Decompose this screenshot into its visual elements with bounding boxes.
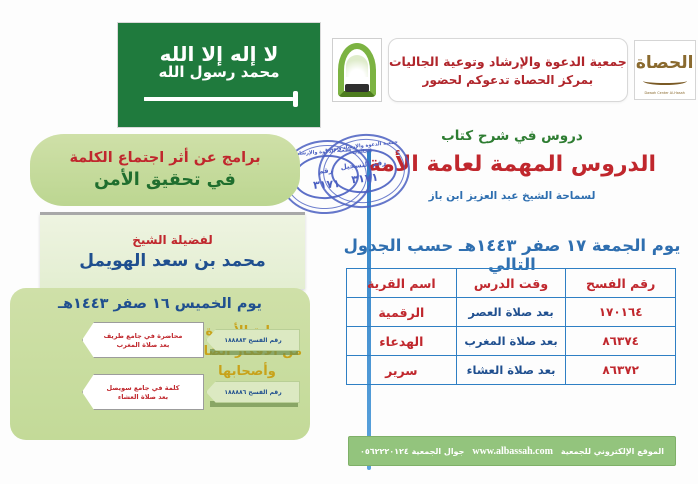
cell-permit: ١٧٠١٦٤	[566, 298, 676, 327]
program-title-line1: برامج عن أثر اجتماع الكلمة	[69, 150, 260, 166]
cell-time: بعد صلاة العشاء	[456, 356, 566, 385]
cell-village: الرقمية	[347, 298, 457, 327]
speaker-name: محمد بن سعد الهويمل	[79, 251, 266, 271]
table-row: ٨٦٣٧٢ بعد صلاة العشاء سرير	[347, 356, 676, 385]
speaker-box: لفضيلة الشيخ محمد بن سعد الهويمل	[40, 212, 305, 289]
brand-subtitle: Dawah Center Al-Hasah	[635, 91, 695, 95]
flag-sword-hilt	[293, 91, 298, 107]
flag-shahada-line1: لا إله إلا الله	[118, 43, 320, 65]
left-panel: جمعية الدعوة والإرشاد وتوعية الجاليات بم…	[326, 0, 698, 484]
column-header-village: اسم القرية	[347, 269, 457, 298]
flag-shahada-line2: محمد رسول الله	[118, 63, 320, 81]
table-header-row: رقم الفسح وقت الدرس اسم القرية	[347, 269, 676, 298]
footer-contact-bar: الموقع الإلكتروني للجمعية www.albassah.c…	[348, 436, 676, 466]
session-chevron: محاضرة في جامع طريف بعد صلاة المغرب	[82, 322, 204, 358]
alhasah-brand-logo: الحصاة Dawah Center Al-Hasah	[634, 40, 696, 100]
cell-time: بعد صلاة العصر	[456, 298, 566, 327]
speaker-honorific: لفضيلة الشيخ	[132, 233, 213, 247]
book-shape	[345, 84, 369, 92]
session-time: بعد صلاة العشاء	[118, 393, 168, 401]
program-title-box: برامج عن أثر اجتماع الكلمة في تحقيق الأم…	[30, 134, 300, 206]
footer-website-url[interactable]: www.albassah.com	[472, 446, 553, 457]
footer-mobile-label: جوال الجمعية ٠٥٦٢٢٢٠١٢٤	[360, 447, 464, 456]
left-header-row: جمعية الدعوة والإرشاد وتوعية الجاليات بم…	[332, 34, 690, 106]
session-title: كلمة في جامع سويصل	[106, 384, 179, 392]
rays-shape	[346, 55, 368, 77]
organization-invite: بمركز الحصاة تدعوكم لحضور	[423, 73, 594, 87]
poster-root: جمعية الدعوة والإرشاد وتوعية الجاليات بم…	[0, 0, 698, 484]
table-row: ٨٦٣٧٤ بعد صلاة المغرب الهدعاء	[347, 327, 676, 356]
column-header-time: وقت الدرس	[456, 269, 566, 298]
slogan-line-3: وأصحابها	[192, 362, 302, 382]
cell-permit: ٨٦٣٧٤	[566, 327, 676, 356]
brand-swoosh	[643, 77, 687, 85]
session-permit: رقم الفسح ١٨٨٨٨٣	[224, 337, 281, 344]
cell-permit: ٨٦٣٧٢	[566, 356, 676, 385]
session-permit-tag: رقم الفسح ١٨٨٨٨٣	[206, 329, 300, 351]
flag-sword-blade	[144, 97, 294, 101]
mosque-arch-icon	[332, 38, 382, 102]
footer-website-label: الموقع الإلكتروني للجمعية	[561, 447, 664, 456]
brand-calligraphy: الحصاة	[635, 53, 695, 73]
session-chevron: كلمة في جامع سويصل بعد صلاة العشاء	[82, 374, 204, 410]
session-permit: رقم الفسح ١٨٨٨٨٦	[224, 389, 281, 396]
session-time: بعد صلاة المغرب	[117, 341, 170, 349]
event-details-card: يوم الخميس ١٦ صفر ١٤٤٣هـ حماية الأسرة من…	[10, 288, 310, 440]
table-row: ١٧٠١٦٤ بعد صلاة العصر الرقمية	[347, 298, 676, 327]
right-panel: لا إله إلا الله محمد رسول الله جمعية الد…	[0, 0, 330, 484]
program-title-line2: في تحقيق الأمن	[94, 170, 236, 190]
session-title: محاضرة في جامع طريف	[104, 332, 183, 340]
cell-time: بعد صلاة المغرب	[456, 327, 566, 356]
column-header-permit: رقم الفسح	[566, 269, 676, 298]
session-permit-tag: رقم الفسح ١٨٨٨٨٦	[206, 381, 300, 403]
saudi-flag-icon: لا إله إلا الله محمد رسول الله	[117, 22, 321, 128]
organization-name: جمعية الدعوة والإرشاد وتوعية الجاليات	[389, 54, 627, 69]
event-date: يوم الخميس ١٦ صفر ١٤٤٣هـ	[10, 296, 310, 312]
cell-village: الهدعاء	[347, 327, 457, 356]
organization-header: جمعية الدعوة والإرشاد وتوعية الجاليات بم…	[388, 38, 628, 102]
cell-village: سرير	[347, 356, 457, 385]
schedule-table: رقم الفسح وقت الدرس اسم القرية ١٧٠١٦٤ بع…	[346, 268, 676, 385]
